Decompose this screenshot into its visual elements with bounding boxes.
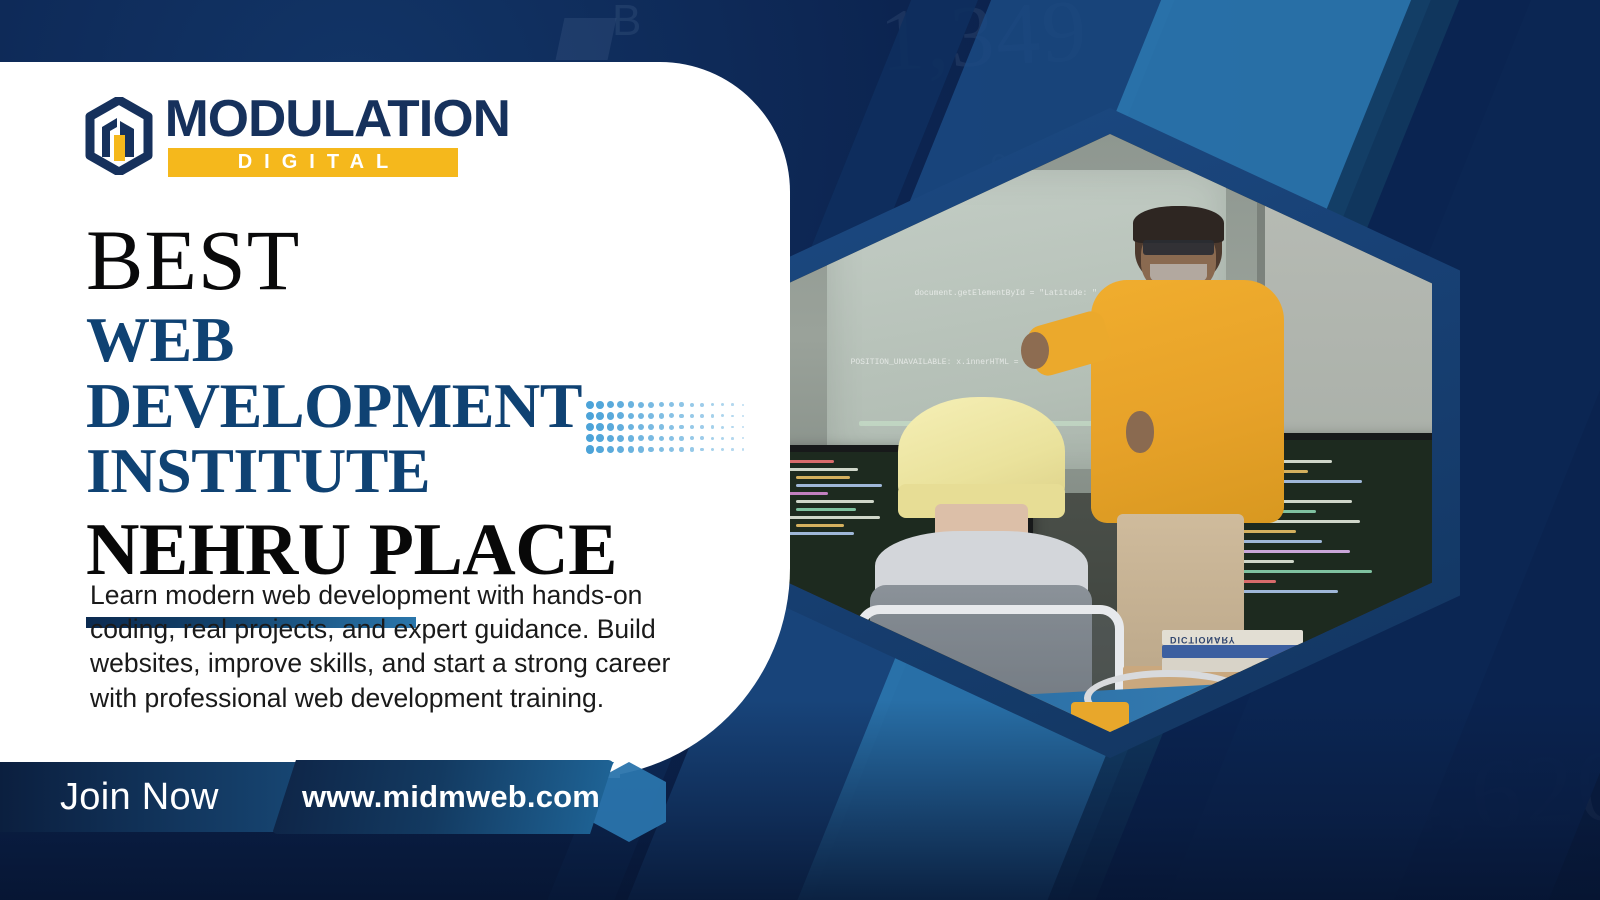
hexagon-monogram-icon — [84, 97, 154, 175]
brand-wordmark: MODULATION DIGITAL — [168, 96, 507, 177]
dot-pattern-row — [586, 430, 754, 441]
dot — [711, 414, 714, 417]
headline-line-1: BEST — [86, 222, 726, 299]
dot — [721, 403, 724, 406]
dot — [607, 412, 614, 419]
dot — [607, 423, 614, 430]
brand-logo[interactable]: MODULATION DIGITAL — [84, 96, 507, 177]
dot-pattern-row — [586, 418, 754, 429]
dot — [700, 425, 704, 429]
dot — [617, 435, 624, 442]
dot — [648, 447, 654, 453]
headline-line-4: NEHRU PLACE — [86, 513, 726, 587]
dot — [711, 425, 714, 428]
brand-tagline: DIGITAL — [168, 148, 458, 177]
dot — [731, 448, 734, 451]
dot — [742, 448, 744, 450]
headline-line-2: WEB DEVELOPMENT — [86, 304, 582, 440]
instructor-sweater — [1091, 280, 1284, 523]
dot — [679, 447, 684, 452]
glasses-icon — [1143, 240, 1213, 255]
background-square-accent — [556, 18, 617, 60]
dot-pattern-row — [586, 396, 754, 407]
dot — [700, 403, 704, 407]
dot — [711, 448, 714, 451]
dot — [659, 447, 664, 452]
instructor-hand — [1021, 332, 1049, 369]
instructor-hand — [1126, 411, 1154, 453]
book-label: DICTIONARY — [1170, 635, 1236, 645]
dot — [586, 445, 594, 453]
dot — [721, 414, 724, 417]
dot — [679, 425, 684, 430]
dot — [731, 415, 734, 418]
dot — [628, 401, 635, 408]
banner-canvas: 1,349 3 4,620 B 0.38 6 document.getEleme… — [0, 0, 1600, 900]
dot — [596, 401, 604, 409]
dot — [659, 424, 664, 429]
dot — [700, 436, 704, 440]
dot — [700, 448, 704, 452]
dot — [638, 402, 644, 408]
dot — [690, 414, 694, 418]
body-paragraph: Learn modern web development with hands-… — [90, 578, 715, 715]
dot — [617, 446, 624, 453]
dot — [628, 446, 635, 453]
dot — [731, 426, 734, 429]
dot-pattern-decoration — [586, 396, 754, 452]
dot — [721, 426, 724, 429]
website-url[interactable]: www.midmweb.com — [286, 760, 616, 834]
dot — [679, 436, 684, 441]
dot — [628, 435, 635, 442]
dot — [669, 447, 674, 452]
dot — [690, 403, 694, 407]
dot — [721, 437, 724, 440]
dot — [742, 437, 744, 439]
dot — [596, 412, 604, 420]
dot — [638, 446, 644, 452]
dot — [648, 402, 654, 408]
dot — [742, 426, 744, 428]
dot — [659, 436, 664, 441]
dot — [711, 403, 714, 406]
dot — [721, 448, 724, 451]
dot — [690, 447, 694, 451]
dot — [617, 424, 624, 431]
dot — [711, 437, 714, 440]
dot — [742, 415, 744, 417]
instructor-figure — [1078, 206, 1297, 672]
dot — [659, 413, 664, 418]
dot — [669, 436, 674, 441]
dot — [700, 414, 704, 418]
dot — [669, 425, 674, 430]
dot — [648, 413, 654, 419]
join-now-label[interactable]: Join Now — [60, 762, 219, 832]
dot — [690, 425, 694, 429]
dot — [690, 436, 694, 440]
dot-pattern-row — [586, 407, 754, 418]
dot — [742, 404, 744, 406]
dot — [731, 403, 734, 406]
brand-name: MODULATION — [165, 96, 510, 144]
dot-pattern-row — [586, 441, 754, 452]
instructor-hair — [1133, 206, 1225, 243]
dot — [731, 437, 734, 440]
cta-bar[interactable]: Join Now www.midmweb.com — [0, 762, 614, 832]
